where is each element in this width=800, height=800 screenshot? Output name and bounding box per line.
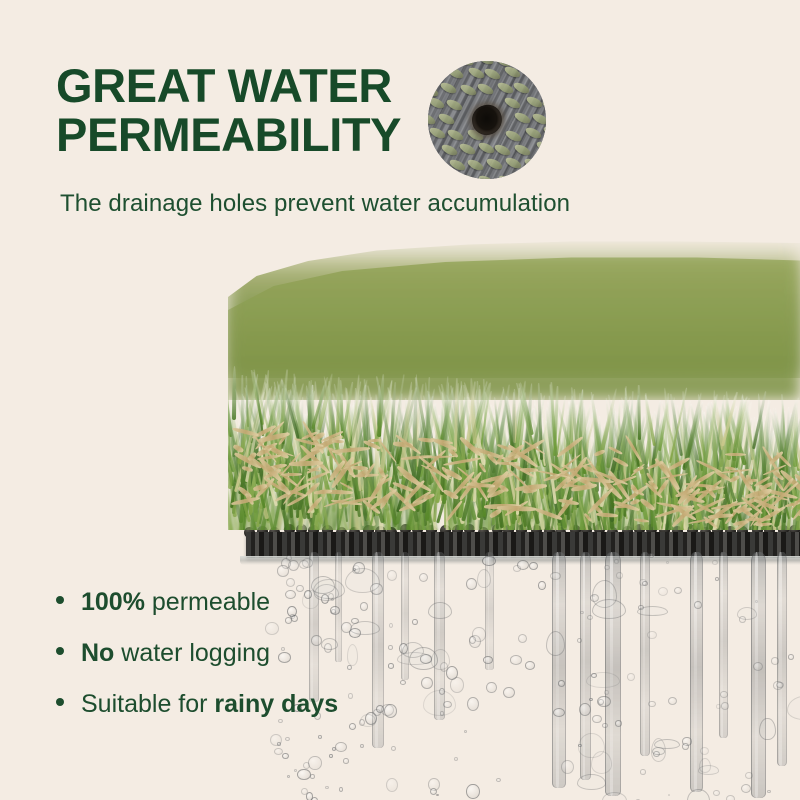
product-feature-poster: GREAT WATER PERMEABILITY The drainage ho… — [0, 0, 800, 800]
headline-line-2: PERMEABILITY — [56, 111, 436, 160]
turf-backing-strip — [246, 532, 800, 558]
drainage-hole-closeup-image — [428, 61, 546, 179]
turf-blades — [228, 280, 800, 530]
bullet-text: Suitable for — [81, 690, 214, 718]
turf-mat-image — [228, 228, 800, 558]
bullet-dot-icon — [56, 647, 64, 655]
list-item: Suitable for rainy days — [56, 690, 338, 719]
bullet-text: permeable — [145, 588, 270, 616]
bullet-strong: No — [81, 639, 114, 667]
feature-bullet-list: 100% permeable No water logging Suitable… — [56, 588, 338, 741]
page-title: GREAT WATER PERMEABILITY — [56, 62, 436, 160]
headline-line-1: GREAT WATER — [56, 62, 436, 111]
list-item: 100% permeable — [56, 588, 338, 617]
bullet-dot-icon — [56, 596, 64, 604]
bullet-dot-icon — [56, 698, 64, 706]
bullet-text: water logging — [114, 639, 270, 667]
bullet-strong: 100% — [81, 588, 145, 616]
page-subtitle: The drainage holes prevent water accumul… — [60, 190, 570, 218]
list-item: No water logging — [56, 639, 338, 668]
bullet-strong: rainy days — [214, 690, 338, 718]
